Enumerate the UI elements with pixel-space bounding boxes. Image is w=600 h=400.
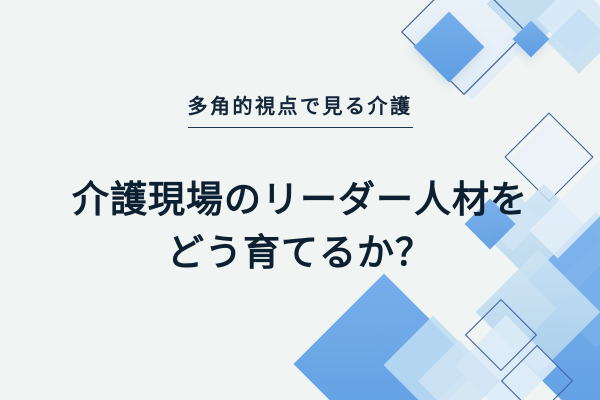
page-title: 介護現場のリーダー人材を どう育てるか？	[72, 175, 528, 280]
slide-canvas: 多角的視点で見る介護 介護現場のリーダー人材を どう育てるか？	[0, 0, 600, 400]
title-block: 多角的視点で見る介護 介護現場のリーダー人材を どう育てるか？	[0, 0, 600, 400]
eyebrow-underline: 多角的視点で見る介護	[188, 95, 413, 128]
page-title-line-1: 介護現場のリーダー人材を	[72, 175, 528, 228]
page-title-line-2: どう育てるか？	[72, 228, 528, 281]
eyebrow-text: 多角的視点で見る介護	[188, 95, 413, 119]
